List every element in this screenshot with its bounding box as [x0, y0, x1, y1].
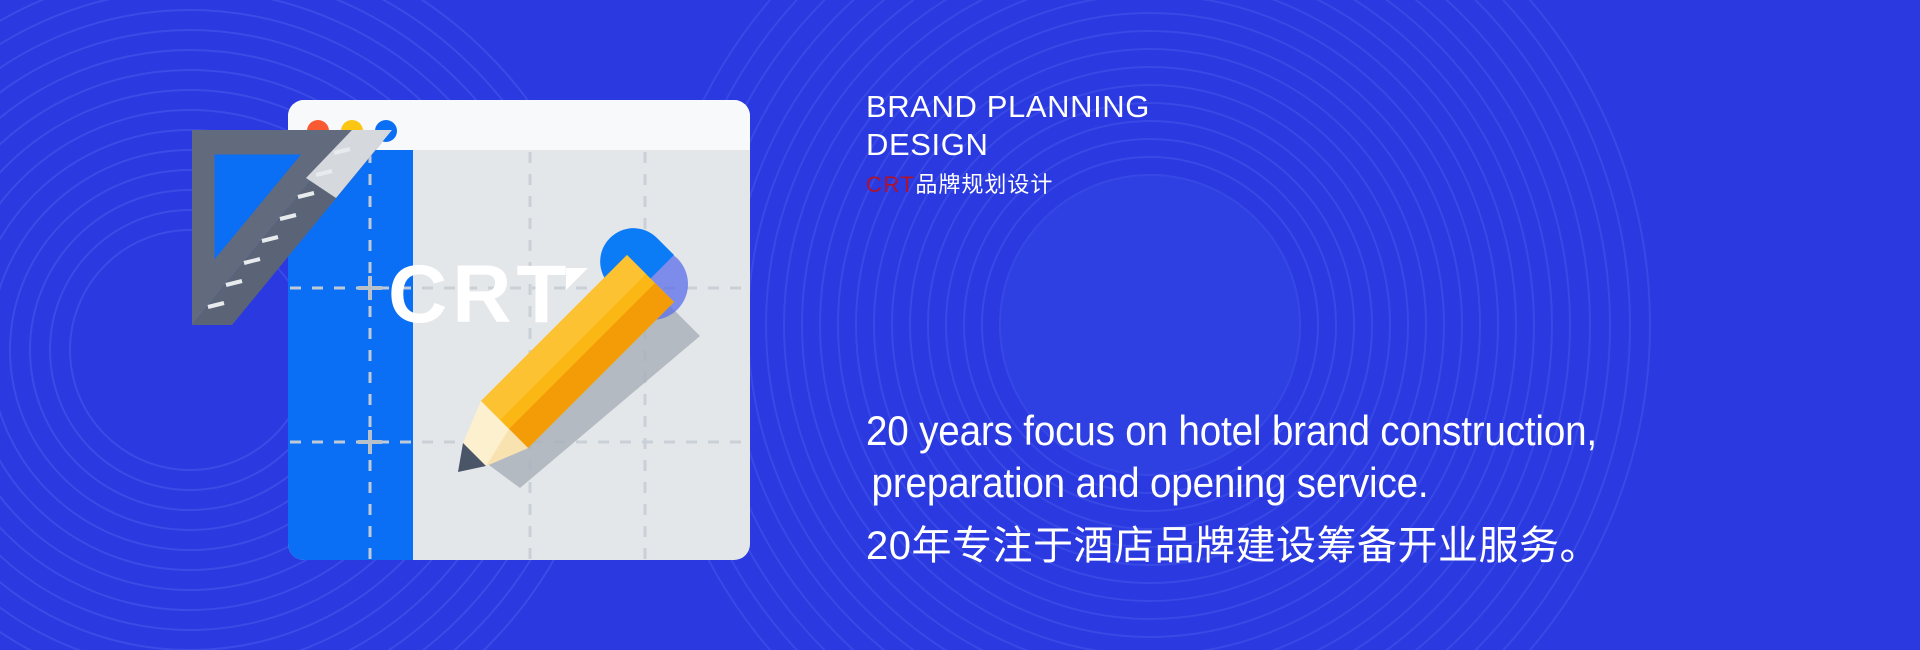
canvas-logo-text: CRT	[388, 249, 572, 340]
headline-block: 20 years focus on hotel brand constructi…	[866, 405, 1866, 571]
eyebrow-crt-mark: CRT	[866, 172, 915, 197]
brand-design-illustration: CRT	[0, 0, 860, 650]
eyebrow-line-1: BRAND PLANNING	[866, 88, 1486, 126]
eyebrow-chinese-text: 品牌规划设计	[915, 172, 1053, 197]
text-column: BRAND PLANNING DESIGN CRT品牌规划设计 20 years…	[866, 0, 1920, 650]
headline-chinese-line: 20年专注于酒店品牌建设筹备开业服务。	[866, 521, 1866, 571]
promo-banner: CRT	[0, 0, 1920, 650]
headline-en-line-2: preparation and opening service.	[866, 457, 1786, 509]
headline-en-line-1: 20 years focus on hotel brand constructi…	[866, 405, 1786, 457]
eyebrow-block: BRAND PLANNING DESIGN CRT品牌规划设计	[866, 88, 1486, 200]
eyebrow-line-2: DESIGN	[866, 126, 1486, 164]
eyebrow-chinese: CRT品牌规划设计	[866, 170, 1486, 200]
